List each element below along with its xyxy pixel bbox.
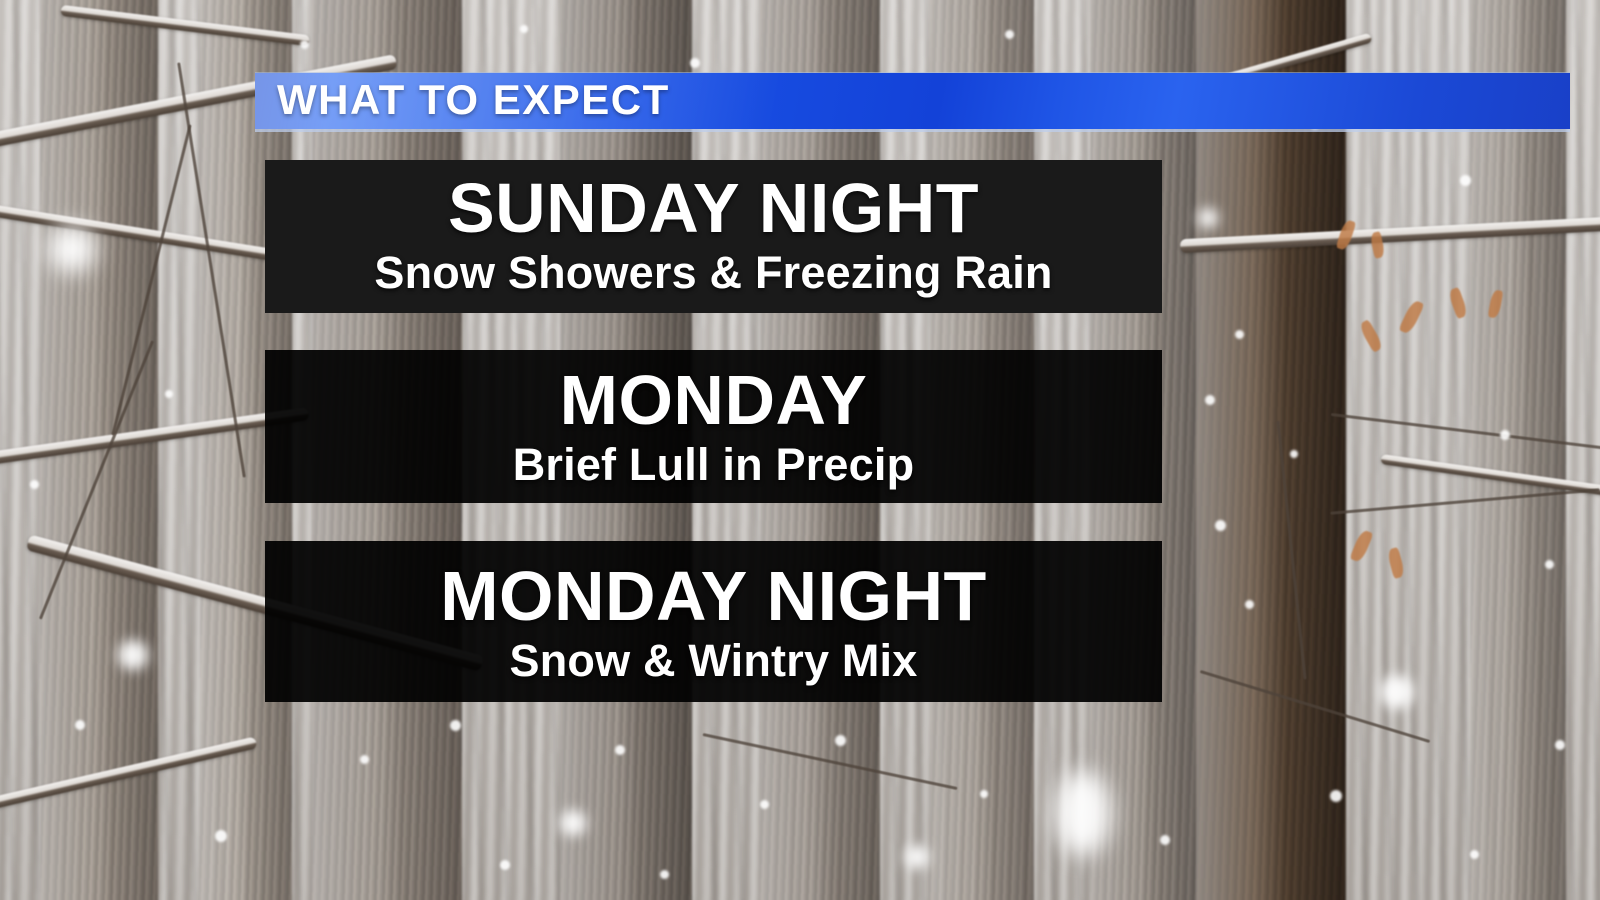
snowflake <box>75 720 85 730</box>
snowflake <box>660 870 669 879</box>
snowflake <box>1470 850 1479 859</box>
snowflake <box>1555 740 1565 750</box>
forecast-panel-sunday-night: SUNDAY NIGHT Snow Showers & Freezing Rai… <box>265 160 1162 313</box>
snowflake <box>1330 790 1342 802</box>
snowflake <box>1290 450 1298 458</box>
snowflake <box>690 58 700 68</box>
forecast-period-description: Brief Lull in Precip <box>513 441 915 488</box>
forecast-period-title: MONDAY <box>560 365 868 436</box>
forecast-period-title: SUNDAY NIGHT <box>448 173 979 244</box>
snowflake <box>165 390 173 398</box>
snowflake <box>905 845 929 869</box>
snowflake <box>1055 770 1111 856</box>
header-banner: WHAT TO EXPECT <box>255 73 1570 129</box>
snowflake <box>1245 600 1254 609</box>
page-title: WHAT TO EXPECT <box>277 79 670 121</box>
snowflake <box>1500 430 1510 440</box>
forecast-period-description: Snow & Wintry Mix <box>509 637 917 684</box>
snowflake <box>1235 330 1244 339</box>
snowflake <box>1160 835 1170 845</box>
snowflake <box>1545 560 1554 569</box>
weather-graphic-stage: WHAT TO EXPECT SUNDAY NIGHT Snow Showers… <box>0 0 1600 900</box>
snowflake <box>500 860 510 870</box>
snowflake <box>1005 30 1014 39</box>
snowflake <box>300 40 309 49</box>
snowflake <box>48 225 96 273</box>
forecast-panel-monday: MONDAY Brief Lull in Precip <box>265 350 1162 503</box>
snowflake <box>1198 208 1218 228</box>
snowflake <box>760 800 769 809</box>
snowflake <box>835 735 846 746</box>
snowflake <box>520 25 528 33</box>
snowflake <box>30 480 39 489</box>
snowflake <box>980 790 988 798</box>
tree-trunk <box>1470 0 1566 900</box>
snowflake <box>560 810 586 836</box>
tree-trunk-foreground-dark <box>1196 0 1346 900</box>
forecast-period-description: Snow Showers & Freezing Rain <box>374 249 1052 296</box>
snowflake <box>360 755 369 764</box>
snowflake <box>1460 175 1471 186</box>
snowflake <box>1380 675 1414 709</box>
snowflake <box>450 720 461 731</box>
snowflake <box>118 640 148 670</box>
snowflake <box>615 745 625 755</box>
snowflake <box>1205 395 1215 405</box>
forecast-panel-monday-night: MONDAY NIGHT Snow & Wintry Mix <box>265 541 1162 702</box>
snowflake <box>215 830 227 842</box>
forecast-period-title: MONDAY NIGHT <box>440 561 987 632</box>
snowflake <box>1215 520 1226 531</box>
